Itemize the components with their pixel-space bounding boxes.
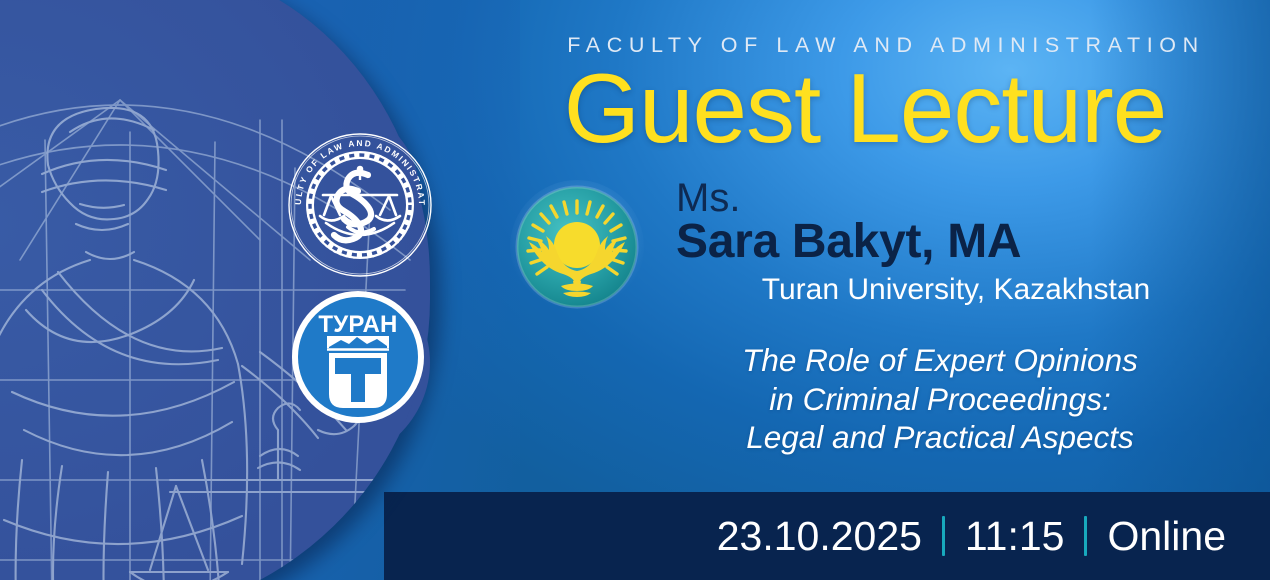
meta-separator-1 (942, 516, 945, 556)
event-time: 11:15 (965, 516, 1065, 557)
lecture-topic-line-1: The Role of Expert Opinions (700, 341, 1180, 380)
speaker-block: Ms. Sara Bakyt, MA (676, 178, 1196, 268)
speaker-honorific: Ms. (676, 178, 1196, 218)
meta-separator-2 (1084, 516, 1087, 556)
speaker-affiliation: Turan University, Kazakhstan (676, 273, 1236, 307)
event-date: 23.10.2025 (717, 516, 922, 557)
event-meta-bar: 23.10.2025 11:15 Online (384, 492, 1270, 580)
lecture-topic: The Role of Expert Opinions in Criminal … (700, 341, 1180, 457)
speaker-name: Sara Bakyt, MA (676, 216, 1196, 268)
university-of-gdansk-faculty-seal-icon: FACULTY OF LAW AND ADMINISTRATION UNIVER… (286, 131, 434, 279)
lecture-topic-line-2: in Criminal Proceedings: (700, 380, 1180, 419)
page-title: Guest Lecture (470, 59, 1260, 157)
kazakhstan-flag-roundel-icon (515, 185, 639, 309)
event-mode: Online (1107, 516, 1226, 557)
turan-university-logo-icon: ТУРАН (291, 290, 425, 424)
svg-text:ТУРАН: ТУРАН (318, 311, 397, 338)
lecture-topic-line-3: Legal and Practical Aspects (700, 418, 1180, 457)
guest-lecture-poster: FACULTY OF LAW AND ADMINISTRATION UNIVER… (0, 0, 1270, 580)
